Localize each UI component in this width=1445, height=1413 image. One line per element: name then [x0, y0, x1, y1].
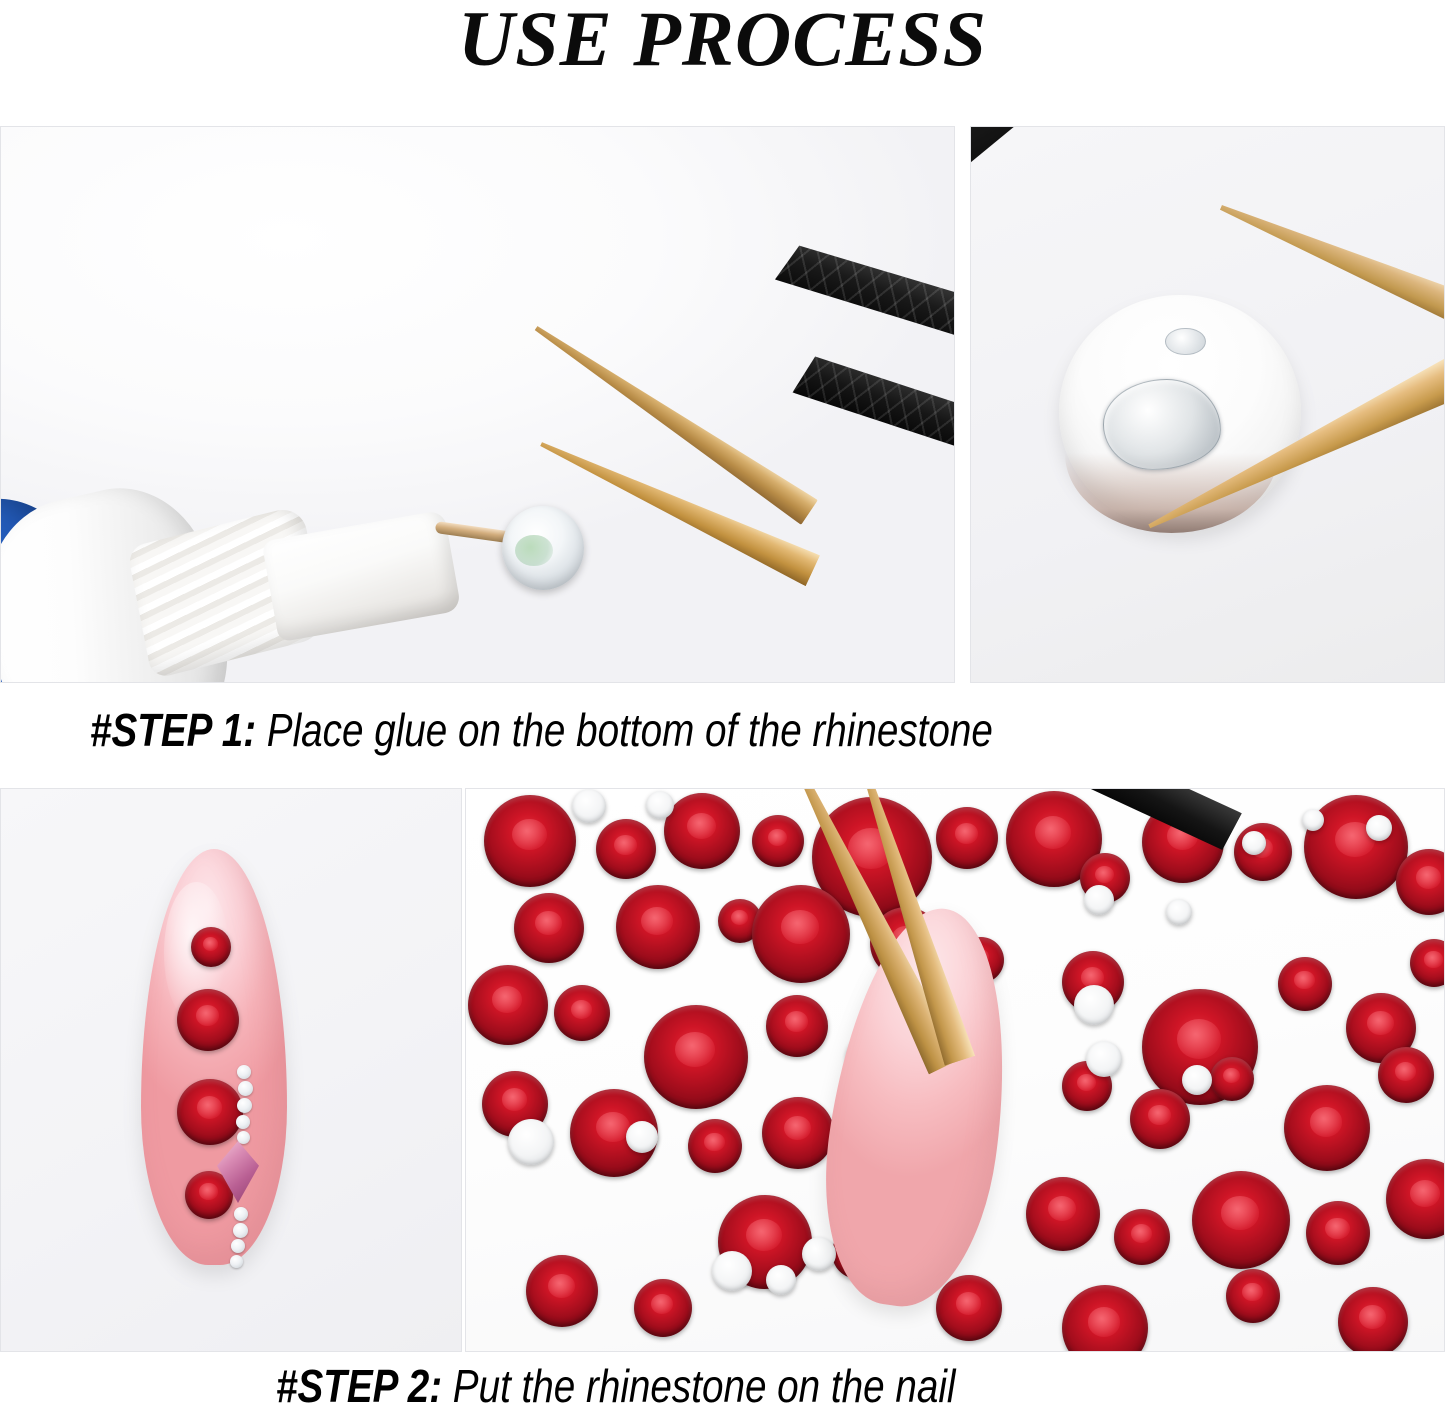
flipped-rhinestone — [626, 1121, 658, 1153]
red-rhinestone — [484, 795, 576, 887]
clear-bead — [237, 1098, 252, 1113]
red-rhinestone — [634, 1279, 692, 1337]
red-rhinestone — [1130, 1089, 1190, 1149]
red-rhinestone — [1192, 1171, 1290, 1269]
red-rhinestone — [1284, 1085, 1370, 1171]
red-rhinestone — [1278, 957, 1332, 1011]
clear-bead — [237, 1065, 251, 1079]
tweezer-grip-corner — [970, 126, 1021, 167]
panel-finished-nail — [0, 788, 462, 1352]
tweezer-lower-grip — [792, 345, 955, 496]
red-rhinestone — [177, 1079, 243, 1145]
red-rhinestone — [762, 1097, 834, 1169]
glue-blob — [1103, 379, 1221, 470]
glue-droplet — [1165, 328, 1206, 356]
tweezer-upper-grip — [774, 230, 955, 379]
clear-bead — [236, 1115, 250, 1129]
red-rhinestone — [1026, 1177, 1100, 1251]
red-rhinestone — [191, 927, 231, 967]
red-rhinestone — [1386, 1159, 1445, 1239]
flipped-rhinestone — [1086, 1041, 1122, 1077]
clear-bead — [237, 1131, 250, 1144]
flipped-rhinestone — [646, 791, 674, 819]
step-2-text: Put the rhinestone on the nail — [442, 1360, 955, 1412]
clear-bead — [238, 1081, 253, 1096]
clear-bead — [230, 1255, 243, 1268]
red-rhinestone — [936, 1275, 1002, 1341]
flipped-rhinestone — [1366, 815, 1392, 841]
red-rhinestone — [1378, 1047, 1434, 1103]
step-2-label: #STEP 2: — [276, 1360, 442, 1412]
flipped-rhinestone — [1182, 1065, 1212, 1095]
step-1-text: Place glue on the bottom of the rhinesto… — [256, 704, 993, 756]
flipped-rhinestone — [766, 1265, 796, 1295]
step-2-caption: #STEP 2: Put the rhinestone on the nail — [276, 1359, 955, 1413]
red-rhinestone — [468, 965, 548, 1045]
tweezer-upper-blade — [528, 316, 818, 525]
red-rhinestone — [1410, 939, 1445, 987]
red-rhinestone — [1062, 1285, 1148, 1352]
red-rhinestone — [936, 807, 998, 869]
red-rhinestone — [752, 815, 804, 867]
step-1-caption: #STEP 1: Place glue on the bottom of the… — [90, 703, 993, 757]
flipped-rhinestone — [712, 1251, 752, 1291]
red-rhinestone — [1210, 1057, 1254, 1101]
panel-stones-scatter — [465, 788, 1445, 1352]
clear-bead — [234, 1207, 248, 1221]
red-rhinestone — [1234, 823, 1292, 881]
red-rhinestone — [1306, 1201, 1370, 1265]
red-rhinestone — [752, 885, 850, 983]
flipped-rhinestone — [1074, 985, 1114, 1025]
flipped-rhinestone — [802, 1237, 836, 1271]
red-rhinestone — [644, 1005, 748, 1109]
nail-decoration-layer — [141, 849, 287, 1265]
flipped-rhinestone — [1242, 831, 1266, 855]
clear-bead — [233, 1223, 248, 1238]
panel-stone-underside — [970, 126, 1445, 683]
flipped-rhinestone — [508, 1119, 554, 1165]
panel-glue-bottle — [0, 126, 955, 683]
red-rhinestone — [1226, 1269, 1280, 1323]
clear-bead — [231, 1239, 245, 1253]
red-rhinestone — [766, 995, 828, 1057]
flipped-rhinestone — [1302, 809, 1324, 831]
flipped-rhinestone — [572, 789, 606, 823]
rhinestone-underside — [1059, 295, 1301, 529]
red-rhinestone — [596, 819, 656, 879]
red-rhinestone — [664, 793, 740, 869]
flipped-rhinestone — [1166, 899, 1192, 925]
red-rhinestone — [1114, 1209, 1170, 1265]
red-rhinestone — [688, 1119, 742, 1173]
red-rhinestone — [177, 989, 239, 1051]
page-title: USE PROCESS — [0, 0, 1445, 84]
red-rhinestone — [554, 985, 610, 1041]
red-rhinestone — [514, 893, 584, 963]
red-rhinestone — [1338, 1287, 1408, 1352]
flipped-rhinestone — [1084, 885, 1114, 915]
clear-rhinestone — [502, 506, 584, 590]
red-rhinestone — [526, 1255, 598, 1327]
red-rhinestone — [616, 885, 700, 969]
step-1-label: #STEP 1: — [90, 704, 256, 756]
